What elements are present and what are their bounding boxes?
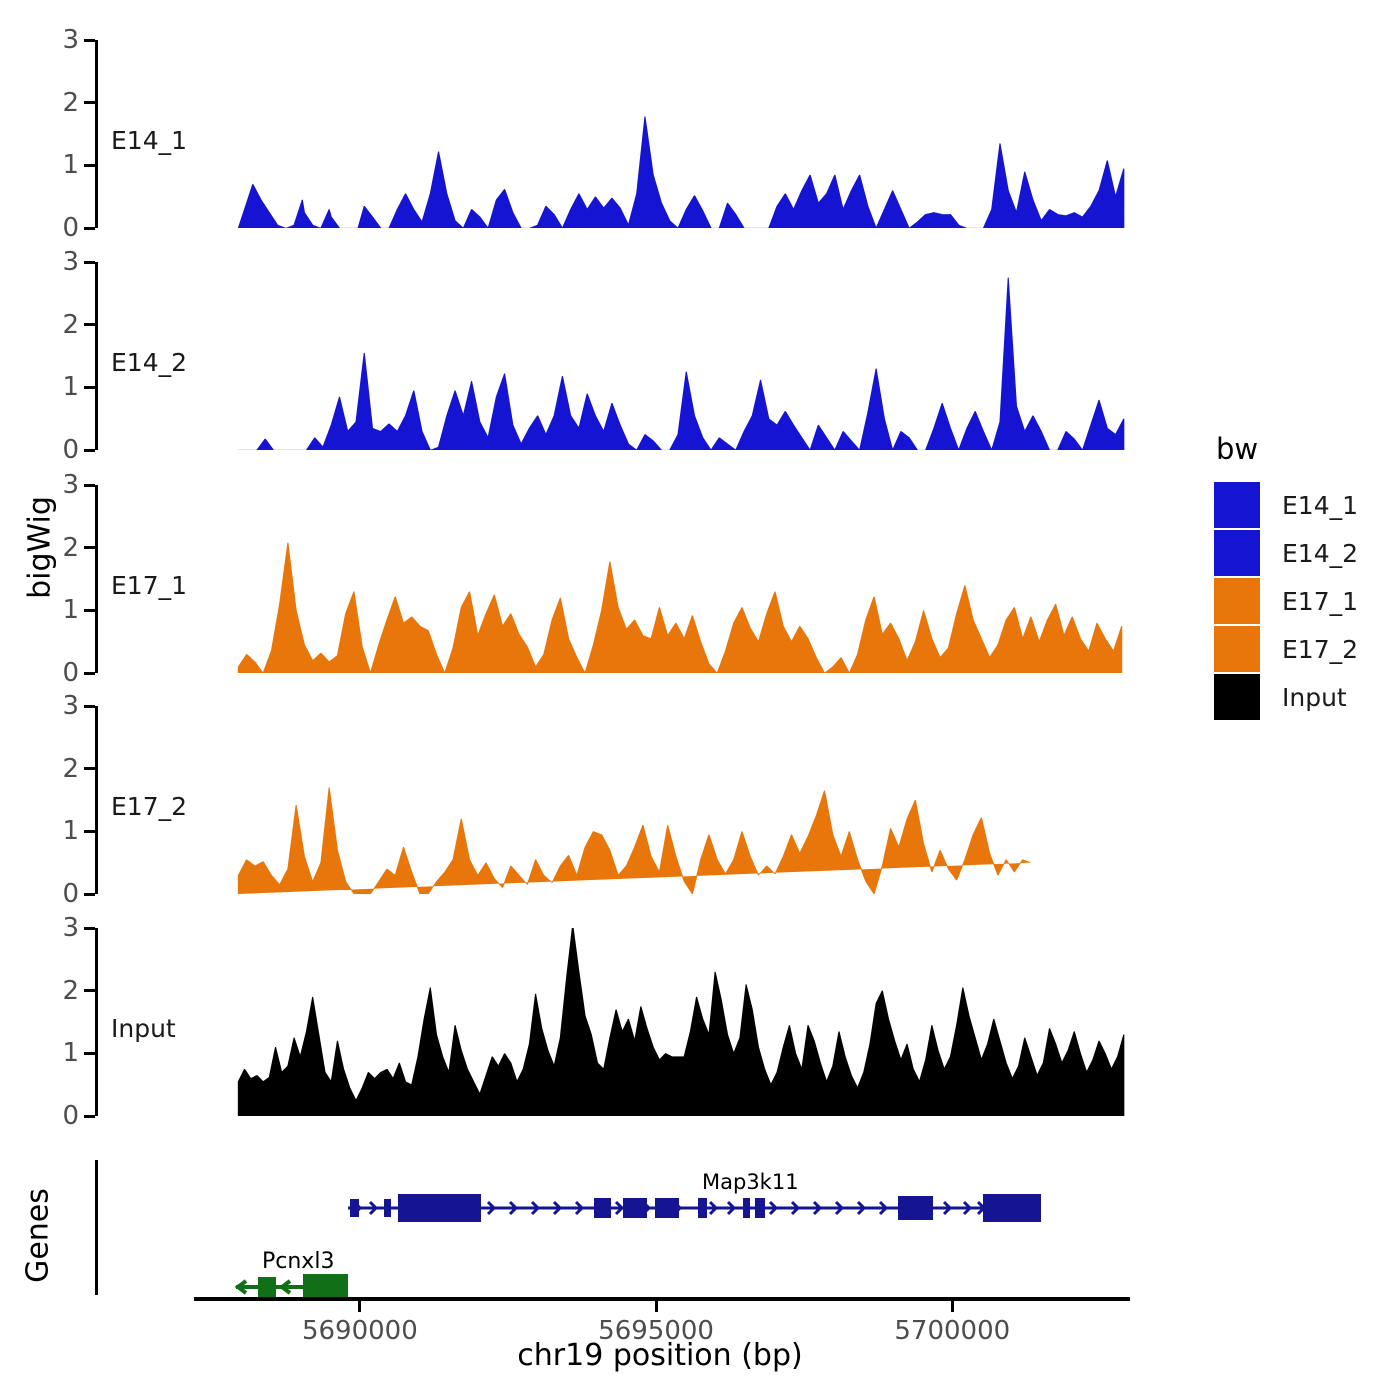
y-tick (84, 705, 95, 708)
y-tick-label: 2 (62, 312, 79, 338)
y-tick (84, 449, 95, 452)
x-tick-label: 5690000 (302, 1316, 418, 1346)
plot-area-e14_1[interactable] (98, 40, 1130, 228)
y-tick-label: 0 (62, 660, 79, 686)
y-tick (84, 989, 95, 992)
legend-swatch (1214, 530, 1260, 576)
y-tick-label: 3 (62, 915, 79, 941)
y-tick (84, 386, 95, 389)
track-panel-input: 0123Input (95, 928, 1130, 1116)
x-tick (655, 1301, 658, 1312)
legend-swatch (1214, 482, 1260, 528)
y-tick (84, 484, 95, 487)
legend-swatch (1214, 578, 1260, 624)
y-tick-label: 0 (62, 1103, 79, 1129)
y-tick (84, 1052, 95, 1055)
track-panel-e17_2: 0123E17_2 (95, 706, 1130, 894)
x-tick (951, 1301, 954, 1312)
y-axis-title-genes: Genes (21, 1136, 56, 1336)
y-tick (84, 767, 95, 770)
y-tick (84, 1115, 95, 1118)
y-tick-label: 3 (62, 27, 79, 53)
y-tick-label: 1 (62, 818, 79, 844)
x-tick-label: 5695000 (598, 1316, 714, 1346)
signal-svg (98, 262, 1130, 450)
plot-area-e17_1[interactable] (98, 485, 1130, 673)
x-axis-line (194, 1297, 1130, 1301)
legend-title: bw (1216, 432, 1400, 466)
signal-svg (98, 706, 1130, 894)
legend-item-e17_2[interactable]: E17_2 (1214, 626, 1400, 672)
signal-area (238, 928, 1123, 1116)
y-tick-label: 1 (62, 374, 79, 400)
y-tick-label: 2 (62, 90, 79, 116)
y-axis-title-bigwig: bigWig (23, 448, 58, 648)
legend-swatch (1214, 674, 1260, 720)
legend-item-e14_2[interactable]: E14_2 (1214, 530, 1400, 576)
gene-label-map3k11: Map3k11 (702, 1170, 799, 1194)
y-tick (84, 39, 95, 42)
legend-label: E17_2 (1282, 635, 1358, 664)
x-tick (358, 1301, 361, 1312)
legend-label: E14_2 (1282, 539, 1358, 568)
legend-items: E14_1E14_2E17_1E17_2Input (1214, 482, 1400, 720)
plot-area-e17_2[interactable] (98, 706, 1130, 894)
signal-svg (98, 40, 1130, 228)
legend-item-e17_1[interactable]: E17_1 (1214, 578, 1400, 624)
gene-map3k11[interactable]: Map3k11 (348, 1170, 1041, 1222)
y-tick-label: 1 (62, 597, 79, 623)
plot-area-e14_2[interactable] (98, 262, 1130, 450)
legend-item-e14_1[interactable]: E14_1 (1214, 482, 1400, 528)
track-panel-e14_1: 0123E14_1 (95, 40, 1130, 228)
y-tick-label: 3 (62, 693, 79, 719)
x-tick-label: 5700000 (894, 1316, 1010, 1346)
plot-area-input[interactable] (98, 928, 1130, 1116)
track-panel-e17_1: 0123E17_1 (95, 485, 1130, 673)
gene-pcnxl3[interactable]: Pcnxl3 (236, 1249, 348, 1300)
signal-area (238, 543, 1121, 673)
y-tick (84, 927, 95, 930)
y-tick-label: 3 (62, 249, 79, 275)
y-tick-label: 2 (62, 535, 79, 561)
legend-swatch (1214, 626, 1260, 672)
y-tick (84, 227, 95, 230)
genes-svg: Map3k11 Pcnxl3 (98, 1160, 1130, 1310)
y-tick-label: 0 (62, 437, 79, 463)
legend-label: E14_1 (1282, 491, 1358, 520)
signal-area (238, 116, 1123, 228)
y-tick-label: 2 (62, 978, 79, 1004)
track-panel-e14_2: 0123E14_2 (95, 262, 1130, 450)
y-tick (84, 546, 95, 549)
y-tick (84, 830, 95, 833)
y-tick (84, 893, 95, 896)
gene-label-pcnxl3: Pcnxl3 (262, 1249, 334, 1274)
legend-item-input[interactable]: Input (1214, 674, 1400, 720)
legend-label: E17_1 (1282, 587, 1358, 616)
signal-area (238, 787, 1031, 894)
y-tick-label: 2 (62, 756, 79, 782)
signal-area (238, 278, 1123, 450)
genes-plot-area[interactable]: Map3k11 Pcnxl3 (98, 1160, 1130, 1310)
signal-svg (98, 928, 1130, 1116)
y-tick-label: 1 (62, 1040, 79, 1066)
y-tick-label: 0 (62, 215, 79, 241)
y-tick (84, 164, 95, 167)
legend: bw E14_1E14_2E17_1E17_2Input (1214, 432, 1400, 722)
legend-label: Input (1282, 683, 1347, 712)
y-tick (84, 101, 95, 104)
y-tick (84, 261, 95, 264)
y-tick (84, 672, 95, 675)
signal-svg (98, 485, 1130, 673)
y-tick (84, 609, 95, 612)
y-tick-label: 0 (62, 881, 79, 907)
y-tick-label: 1 (62, 152, 79, 178)
y-tick (84, 323, 95, 326)
y-tick-label: 3 (62, 472, 79, 498)
genes-track-panel: Map3k11 Pcnxl3 (95, 1160, 1130, 1310)
